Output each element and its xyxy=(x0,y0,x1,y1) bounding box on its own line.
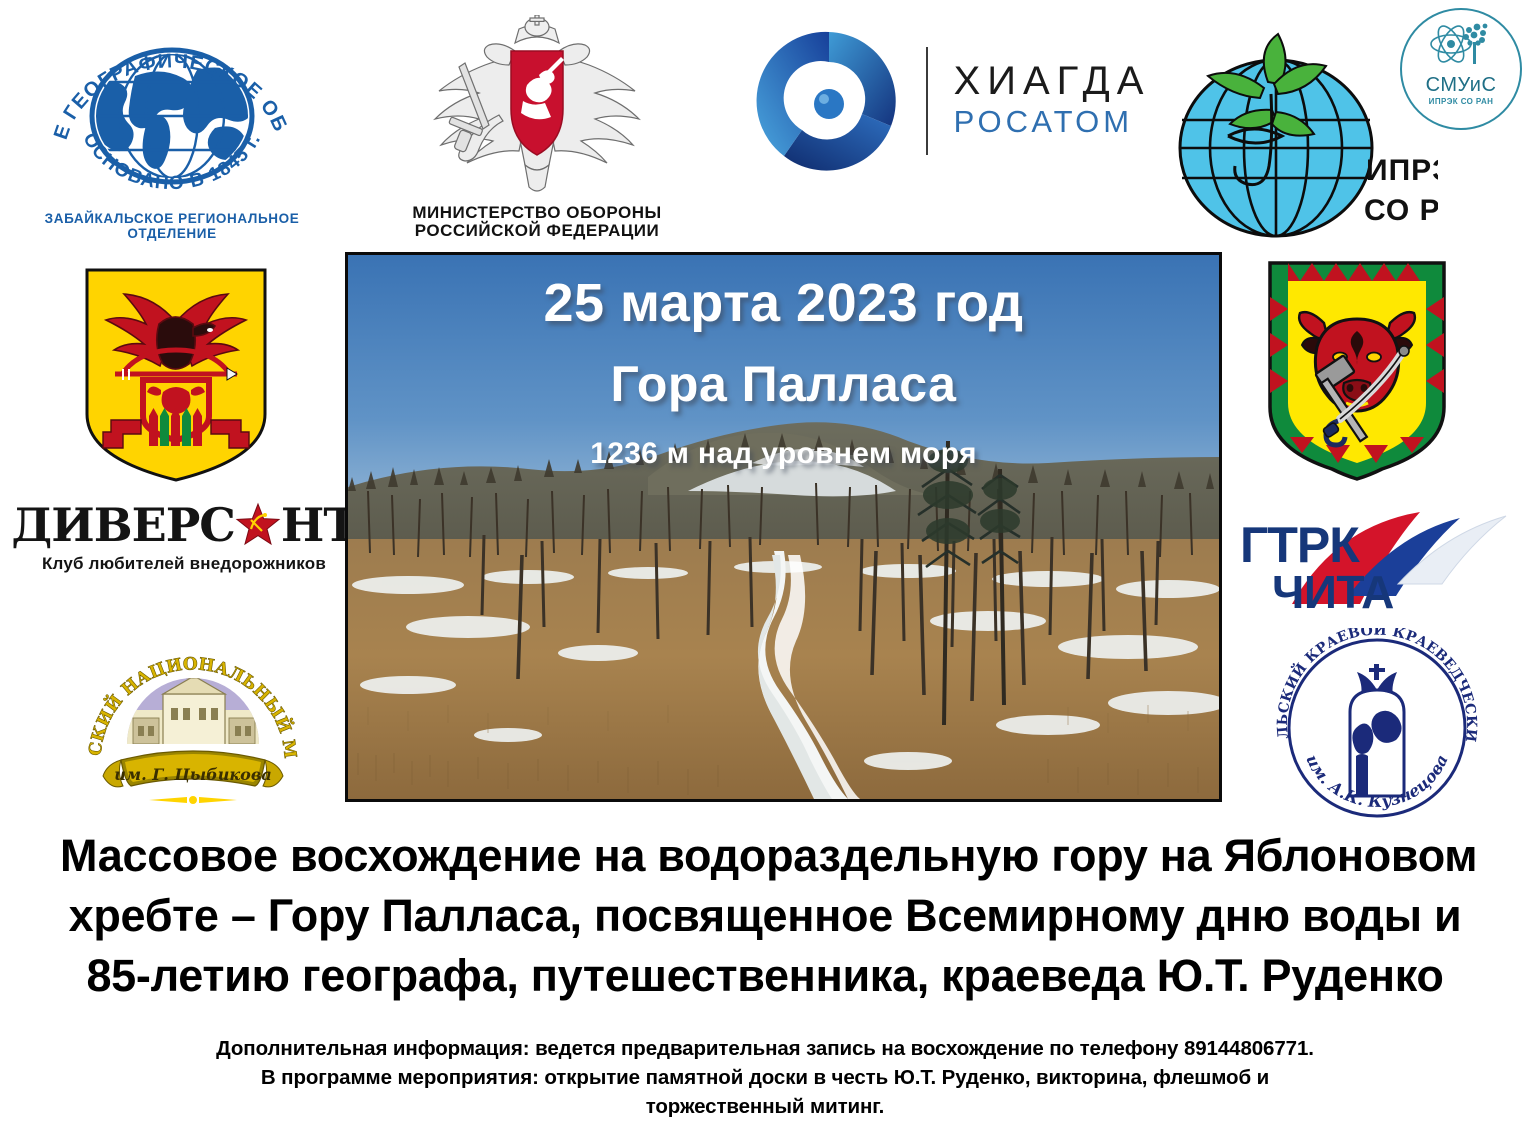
logo-chita-city-arms xyxy=(1262,256,1452,486)
gtrk-line1: ГТРК xyxy=(1240,517,1360,573)
headline-line-3: 85-летию географа, путешественника, крае… xyxy=(60,946,1470,1006)
diversant-caption: Клуб любителей внедорожников xyxy=(42,554,326,574)
logo-gtrk-chita: ГТРК ЧИТА xyxy=(1236,504,1526,626)
rosatom-atom-icon xyxy=(754,26,904,176)
red-star-hammer-sickle-icon xyxy=(235,502,281,548)
gtrk-icon: ГТРК ЧИТА xyxy=(1236,504,1526,626)
poster-footer: Дополнительная информация: ведется предв… xyxy=(95,1034,1435,1121)
photo-altitude-text: 1236 м над уровнем моря xyxy=(348,438,1219,470)
mod-eagle-icon xyxy=(387,15,687,200)
poster-headline: Массовое восхождение на водораздельную г… xyxy=(60,826,1470,1006)
gtrk-line2: ЧИТА xyxy=(1272,566,1394,618)
mod-caption-line2: РОССИЙСКОЙ ФЕДЕРАЦИИ xyxy=(415,222,659,240)
logo-aginsky-national-museum: АГИНСКИЙ НАЦИОНАЛЬНЫЙ МУЗЕЙ им. Г. Цыбик… xyxy=(85,632,300,812)
logo-smuis: СМУиС ИПРЭК СО РАН xyxy=(1398,6,1524,132)
aginsky-museum-icon: АГИНСКИЙ НАЦИОНАЛЬНЫЙ МУЗЕЙ им. Г. Цыбик… xyxy=(85,632,300,812)
logo-diversant-club: ДИВЕРС НТ Клуб любителей внедорожников xyxy=(26,492,342,584)
inrek-caption-line2: СО РАН xyxy=(1364,194,1438,227)
photo-date-title: 25 марта 2023 год xyxy=(348,275,1219,332)
event-photo: 25 марта 2023 год Гора Палласа 1236 м на… xyxy=(345,252,1222,802)
aginsky-ribbon-text: им. Г. Цыбикова xyxy=(114,765,271,784)
smuis-circle: СМУиС ИПРЭК СО РАН xyxy=(1400,8,1522,130)
logo-rosatom-khiagda: ХИАГДА РОСАТОМ xyxy=(752,18,1152,183)
chita-shield-icon xyxy=(1262,257,1452,485)
smuis-atom-tree-icon xyxy=(1421,18,1501,70)
rosatom-word-khiagda: ХИАГДА xyxy=(954,59,1151,103)
mod-caption-line1: МИНИСТЕРСТВО ОБОРОНЫ xyxy=(412,204,661,222)
diversant-word-part1: ДИВЕРС xyxy=(11,502,235,548)
smuis-title: СМУиС xyxy=(1426,75,1497,95)
zab-museum-icon: ЗАБАЙКАЛЬСКИЙ КРАЕВОЙ КРАЕВЕДЧЕСКИЙ МУЗЕ… xyxy=(1272,628,1482,823)
footer-line-3: торжественный митинг. xyxy=(95,1092,1435,1121)
rosatom-divider xyxy=(926,47,928,155)
footer-line-1: Дополнительная информация: ведется предв… xyxy=(95,1034,1435,1063)
diversant-wordmark: ДИВЕРС НТ xyxy=(11,502,356,548)
logo-zabaykalsky-regional-museum: ЗАБАЙКАЛЬСКИЙ КРАЕВОЙ КРАЕВЕДЧЕСКИЙ МУЗЕ… xyxy=(1272,628,1482,823)
photo-text-overlay: 25 марта 2023 год Гора Палласа 1236 м на… xyxy=(348,275,1219,470)
poster-canvas: РУССКОЕ ГЕОГРАФИЧЕСКОЕ ОБЩЕСТВО • ОСНОВА… xyxy=(0,0,1529,1125)
logo-zabaykalsky-krai-arms xyxy=(78,262,273,487)
photo-place-title: Гора Палласа xyxy=(348,358,1219,411)
footer-line-2: В программе мероприятия: открытие памятн… xyxy=(95,1063,1435,1092)
headline-line-1: Массовое восхождение на водораздельную г… xyxy=(60,826,1470,886)
krai-shield-icon xyxy=(81,264,271,486)
rgo-globe-icon: РУССКОЕ ГЕОГРАФИЧЕСКОЕ ОБЩЕСТВО • ОСНОВА… xyxy=(47,20,297,210)
inrek-caption-line1: ИПРЭК xyxy=(1366,154,1438,187)
logo-russian-geographical-society: РУССКОЕ ГЕОГРАФИЧЕСКОЕ ОБЩЕСТВО • ОСНОВА… xyxy=(22,8,322,253)
logo-ministry-of-defence: МИНИСТЕРСТВО ОБОРОНЫ РОССИЙСКОЙ ФЕДЕРАЦИ… xyxy=(372,4,702,250)
smuis-subtitle: ИПРЭК СО РАН xyxy=(1429,97,1494,106)
headline-line-2: хребте – Гору Палласа, посвященное Всеми… xyxy=(60,886,1470,946)
rgo-caption: ЗАБАЙКАЛЬСКОЕ РЕГИОНАЛЬНОЕ ОТДЕЛЕНИЕ xyxy=(22,212,322,240)
zab-museum-ribbon-text: им. А.К. Кузнецова xyxy=(1302,752,1452,811)
svg-text:им. А.К. Кузнецова: им. А.К. Кузнецова xyxy=(1302,752,1452,811)
rosatom-word-rosatom: РОСАТОМ xyxy=(954,103,1134,142)
